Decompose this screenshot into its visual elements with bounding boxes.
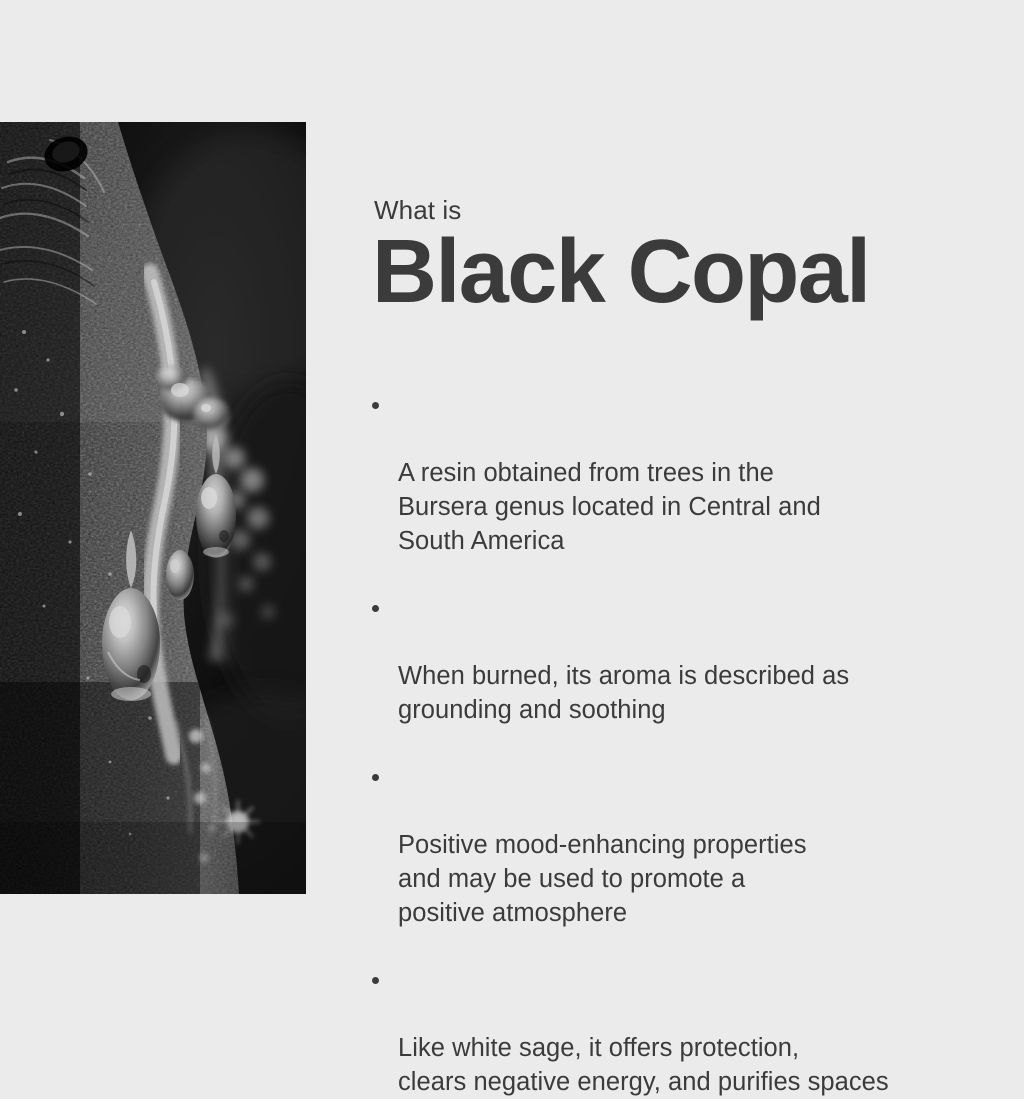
bullet-dot-icon — [372, 402, 379, 409]
list-item-text: A resin obtained from trees in the Burse… — [398, 459, 821, 555]
list-item-text: When burned, its aroma is described as g… — [398, 662, 849, 724]
list-item: Like white sage, it offers protection, c… — [368, 963, 988, 1099]
list-item-text: Like white sage, it offers protection, c… — [398, 1034, 889, 1096]
list-item: A resin obtained from trees in the Burse… — [368, 388, 988, 558]
facts-list: A resin obtained from trees in the Burse… — [368, 388, 988, 1099]
page-title: Black Copal — [372, 228, 988, 316]
bullet-dot-icon — [372, 977, 379, 984]
infographic-card: What is Black Copal A resin obtained fro… — [0, 0, 1024, 1024]
copal-resin-photo — [0, 122, 306, 894]
list-item: When burned, its aroma is described as g… — [368, 591, 988, 727]
list-item: Positive mood-enhancing properties and m… — [368, 760, 988, 930]
photo-illustration — [0, 122, 306, 894]
bullet-dot-icon — [372, 605, 379, 612]
list-item-text: Positive mood-enhancing properties and m… — [398, 831, 807, 927]
content-column: What is Black Copal A resin obtained fro… — [368, 196, 988, 1099]
bullet-dot-icon — [372, 774, 379, 781]
